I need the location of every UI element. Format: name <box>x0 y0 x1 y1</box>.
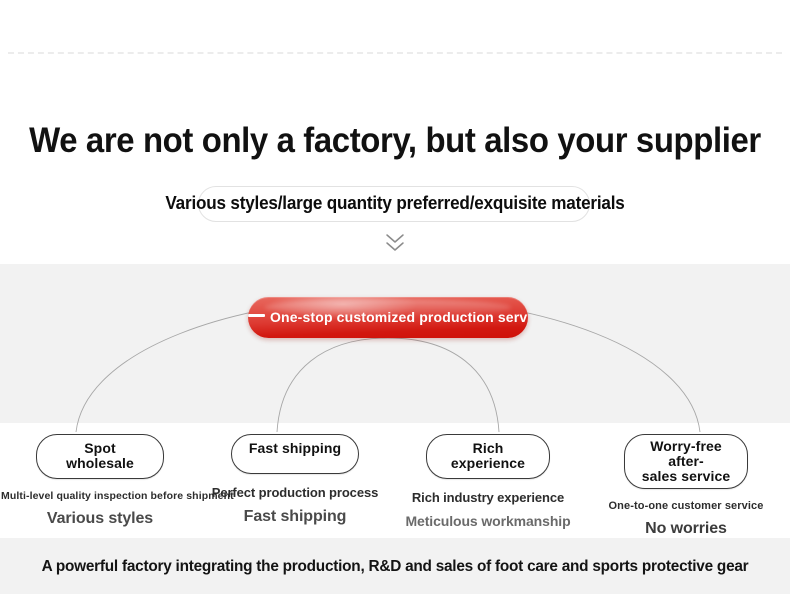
feature-subtitle-0: Multi-level quality inspection before sh… <box>1 490 199 502</box>
feature-column-fast-shipping: Fast shipping Perfect production process… <box>196 434 394 526</box>
feature-pill-label-0: Spot wholesale <box>53 441 147 471</box>
feature-pill-0[interactable]: Spot wholesale <box>36 434 164 479</box>
feature-pill-label-2: Rich experience <box>443 441 533 471</box>
center-node-inner: One-stop customized production service <box>248 308 528 326</box>
feature-name-1: Fast shipping <box>196 508 394 526</box>
feature-columns: Spot wholesale Multi-level quality inspe… <box>0 434 790 534</box>
promo-banner: We are not only a factory, but also your… <box>0 0 790 594</box>
feature-pill-1[interactable]: Fast shipping <box>231 434 359 474</box>
subtitle-block: Various styles/large quantity preferred/… <box>0 186 790 222</box>
chevron-double-down-icon <box>0 231 790 255</box>
feature-column-spot-wholesale: Spot wholesale Multi-level quality inspe… <box>1 434 199 528</box>
feature-name-3: No worries <box>587 520 785 538</box>
feature-pill-label-3: Worry-free after- sales service <box>641 439 731 484</box>
center-node-label: One-stop customized production service <box>270 309 528 325</box>
feature-column-worry-free-service: Worry-free after- sales service One-to-o… <box>587 434 785 538</box>
mid-gray-band <box>0 264 790 423</box>
dash-icon <box>248 314 265 317</box>
subtitle-text: Various styles/large quantity preferred/… <box>20 193 771 214</box>
feature-name-2: Meticulous workmanship <box>389 513 587 529</box>
center-node-pill[interactable]: One-stop customized production service <box>248 297 528 338</box>
feature-subtitle-2: Rich industry experience <box>389 490 587 505</box>
footer-text: A powerful factory integrating the produ… <box>16 558 774 576</box>
feature-name-0: Various styles <box>1 510 199 528</box>
feature-pill-3[interactable]: Worry-free after- sales service <box>624 434 748 489</box>
feature-subtitle-1: Perfect production process <box>196 485 394 500</box>
page-title: We are not only a factory, but also your… <box>24 119 767 163</box>
feature-column-rich-experience: Rich experience Rich industry experience… <box>389 434 587 529</box>
feature-pill-label-1: Fast shipping <box>248 441 342 456</box>
feature-subtitle-3: One-to-one customer service <box>587 500 785 512</box>
feature-pill-2[interactable]: Rich experience <box>426 434 550 479</box>
top-dashed-divider <box>8 52 782 54</box>
